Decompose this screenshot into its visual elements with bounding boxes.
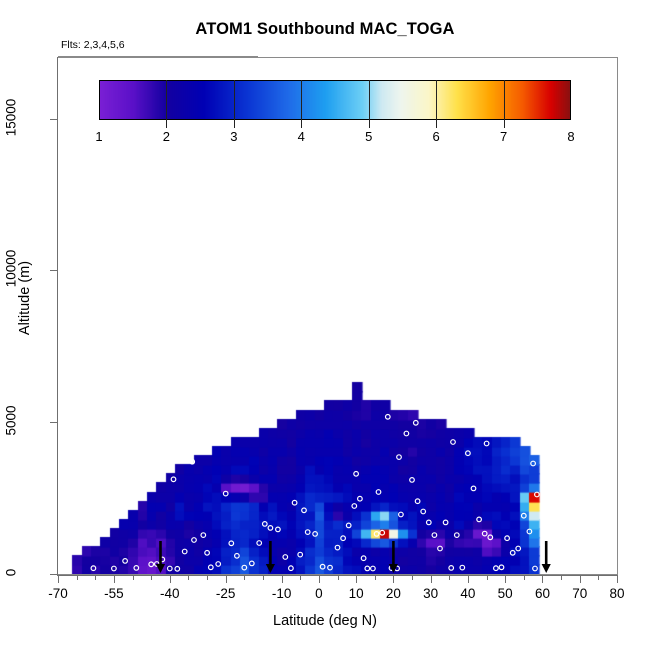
- x-tick-label: -55: [104, 586, 124, 601]
- colorbar-tick: [234, 80, 235, 128]
- x-tick-minor: [133, 576, 134, 580]
- x-tick-major: [58, 576, 59, 583]
- x-tick-major: [226, 576, 227, 583]
- colorbar-gradient: [99, 80, 571, 120]
- y-tick: [50, 270, 57, 271]
- x-tick-minor: [263, 576, 264, 580]
- x-tick-label: 70: [572, 586, 587, 601]
- x-tick-minor: [95, 576, 96, 580]
- y-tick-label: 0: [4, 538, 19, 608]
- colorbar: 12345678: [99, 80, 571, 120]
- colorbar-tick-label: 4: [298, 129, 305, 144]
- colorbar-tick-label: 6: [433, 129, 440, 144]
- x-tick-minor: [77, 576, 78, 580]
- x-tick-major: [505, 576, 506, 583]
- colorbar-tick-label: 8: [567, 129, 574, 144]
- x-tick-major: [468, 576, 469, 583]
- x-tick-minor: [300, 576, 301, 580]
- x-tick-label: 40: [460, 586, 475, 601]
- x-tick-label: 30: [423, 586, 438, 601]
- x-tick-major: [542, 576, 543, 583]
- y-axis-title: Altitude (m): [17, 228, 33, 368]
- x-tick-major: [580, 576, 581, 583]
- page-title: ATOM1 Southbound MAC_TOGA: [0, 20, 650, 39]
- colorbar-tick: [436, 80, 437, 128]
- colorbar-tick-label: 1: [95, 129, 102, 144]
- x-tick-minor: [561, 576, 562, 580]
- colorbar-tick: [504, 80, 505, 128]
- x-tick-major: [319, 576, 320, 583]
- y-tick: [50, 574, 57, 575]
- x-tick-major: [356, 576, 357, 583]
- x-tick-label: -10: [272, 586, 292, 601]
- colorbar-tick-label: 2: [163, 129, 170, 144]
- colorbar-tick: [369, 80, 370, 128]
- x-tick-label: -40: [160, 586, 180, 601]
- x-tick-minor: [598, 576, 599, 580]
- x-tick-major: [170, 576, 171, 583]
- colorbar-tick: [301, 80, 302, 128]
- figure-root: ATOM1 Southbound MAC_TOGA Flts: 2,3,4,5,…: [0, 0, 650, 650]
- x-tick-label: 20: [386, 586, 401, 601]
- heatmap-canvas: [58, 58, 617, 574]
- colorbar-tick: [166, 80, 167, 128]
- x-axis-title: Latitude (deg N): [0, 613, 650, 629]
- x-tick-label: -25: [216, 586, 236, 601]
- x-tick-label: -70: [48, 586, 68, 601]
- x-tick-major: [393, 576, 394, 583]
- x-tick-label: 50: [498, 586, 513, 601]
- x-tick-minor: [151, 576, 152, 580]
- x-tick-major: [617, 576, 618, 583]
- x-tick-label: 0: [315, 586, 323, 601]
- x-tick-label: 10: [349, 586, 364, 601]
- x-tick-minor: [244, 576, 245, 580]
- x-tick-major: [114, 576, 115, 583]
- y-tick: [50, 422, 57, 423]
- x-tick-major: [282, 576, 283, 583]
- x-tick-label: 80: [609, 586, 624, 601]
- y-tick: [50, 119, 57, 120]
- x-tick-minor: [188, 576, 189, 580]
- y-tick-label: 5000: [4, 386, 19, 456]
- x-tick-minor: [338, 576, 339, 580]
- x-tick-minor: [524, 576, 525, 580]
- x-tick-minor: [375, 576, 376, 580]
- x-tick-minor: [487, 576, 488, 580]
- colorbar-tick-label: 5: [365, 129, 372, 144]
- colorbar-tick-label: 3: [230, 129, 237, 144]
- y-tick-label: 15000: [4, 82, 19, 152]
- colorbar-tick-label: 7: [500, 129, 507, 144]
- y-axis-line: [57, 57, 58, 575]
- x-tick-minor: [412, 576, 413, 580]
- x-tick-minor: [449, 576, 450, 580]
- flights-annotation: Flts: 2,3,4,5,6: [61, 39, 125, 51]
- x-tick-label: 60: [535, 586, 550, 601]
- x-tick-minor: [207, 576, 208, 580]
- x-tick-major: [431, 576, 432, 583]
